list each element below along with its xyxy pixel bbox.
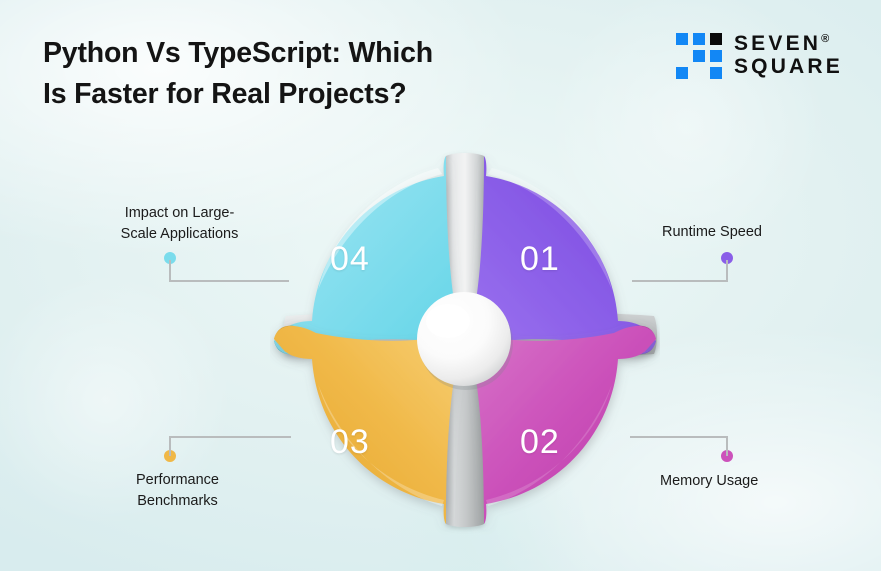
logo-text-seven: SEVEN — [734, 32, 821, 55]
pinwheel-diagram: 01 02 03 04 — [270, 140, 660, 540]
page-title: Python Vs TypeScript: Which Is Faster fo… — [43, 33, 563, 115]
center-sphere-highlight — [426, 304, 470, 338]
logo-line-one: SEVEN® — [734, 33, 843, 56]
logo-wordmark: SEVEN® SQUARE — [734, 33, 843, 78]
callout-label-03: Performance Benchmarks — [95, 470, 260, 512]
callout-label-02: Memory Usage — [660, 471, 835, 492]
logo-cell — [693, 33, 705, 45]
logo-line-two: SQUARE — [734, 56, 843, 79]
callout-label-04: Impact on Large- Scale Applications — [92, 203, 267, 245]
logo-cell-accent — [710, 33, 722, 45]
connector-line-02-vertical — [726, 436, 728, 456]
logo-cell-empty — [693, 67, 705, 79]
callout-label-01: Runtime Speed — [662, 222, 837, 243]
center-sphere — [417, 292, 511, 386]
segment-number-04: 04 — [330, 240, 370, 279]
logo-cell — [710, 67, 722, 79]
logo-cell — [676, 67, 688, 79]
segment-number-02: 02 — [520, 423, 560, 462]
segment-number-01: 01 — [520, 240, 560, 279]
seven-square-logo-mark-icon — [676, 33, 722, 79]
logo-cell — [693, 50, 705, 62]
connector-line-01-vertical — [726, 260, 728, 282]
logo-cell — [676, 33, 688, 45]
registered-mark-icon: ® — [821, 33, 829, 45]
connector-line-03-vertical — [169, 436, 171, 456]
infographic-canvas: Python Vs TypeScript: Which Is Faster fo… — [0, 0, 881, 571]
logo-cell — [710, 50, 722, 62]
connector-line-04-vertical — [169, 260, 171, 282]
brand-logo: SEVEN® SQUARE — [676, 33, 843, 79]
logo-cell-empty — [676, 50, 688, 62]
pinwheel-svg — [270, 140, 660, 540]
segment-number-03: 03 — [330, 423, 370, 462]
